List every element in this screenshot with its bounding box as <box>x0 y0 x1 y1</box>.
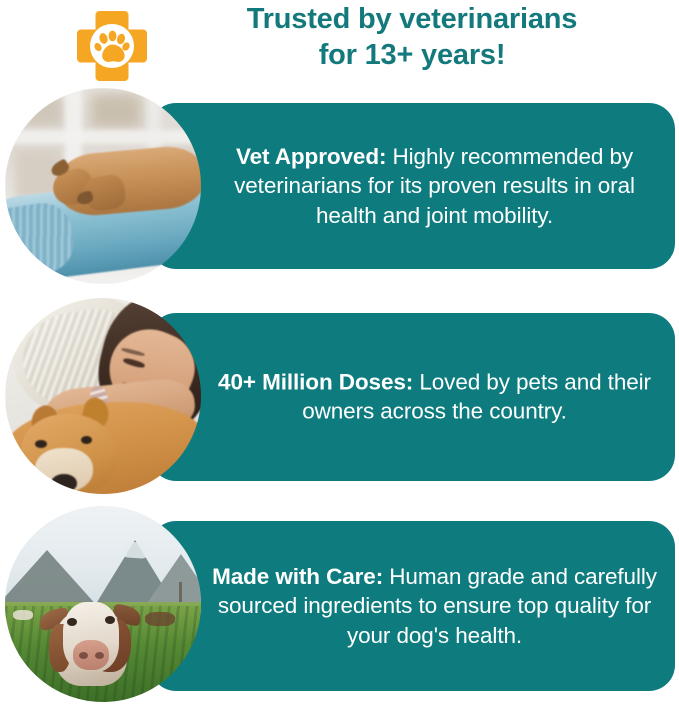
feature-row-vet-approved: Vet Approved: Highly recommended by vete… <box>0 88 679 284</box>
shelf-item-b <box>91 94 141 128</box>
cow-eye-left <box>67 618 77 626</box>
cow-nostril-right <box>95 652 104 659</box>
feature-card-made-with-care: Made with Care: Human grade and carefull… <box>150 521 675 691</box>
feature-card-vet-approved: Vet Approved: Highly recommended by vete… <box>150 103 675 269</box>
page-title-line-2: for 13+ years! <box>152 38 672 74</box>
mountain-left <box>5 550 99 608</box>
dog-paw-on-gloved-hand-photo <box>5 88 201 284</box>
shelf-rail-upper <box>5 130 201 144</box>
feature-text-vet-approved: Vet Approved: Highly recommended by vete… <box>212 142 657 230</box>
feature-text-million-doses: 40+ Million Doses: Loved by pets and the… <box>212 368 657 427</box>
page-title: Trusted by veterinarians for 13+ years! <box>152 2 672 74</box>
photo-artwork <box>5 298 201 494</box>
photo-artwork <box>5 506 201 702</box>
page-title-line-1: Trusted by veterinarians <box>152 2 672 38</box>
veterinary-cross-paw-icon <box>72 6 152 86</box>
feature-text-made-with-care: Made with Care: Human grade and carefull… <box>212 562 657 650</box>
feature-card-million-doses: 40+ Million Doses: Loved by pets and the… <box>150 313 675 481</box>
cow-in-mountain-pasture-photo <box>5 506 201 702</box>
feature-lead-million-doses: 40+ Million Doses: <box>218 370 413 395</box>
shelf-item-a <box>23 96 63 126</box>
distant-cow-left <box>13 610 33 620</box>
distant-cow-right <box>145 612 175 626</box>
shiba-inu-nose <box>51 474 77 492</box>
photo-artwork <box>5 88 201 284</box>
cow-eye-right <box>105 616 115 624</box>
woman-hugging-shiba-inu-photo <box>5 298 201 494</box>
cow-nostril-left <box>79 652 88 659</box>
feature-row-million-doses: 40+ Million Doses: Loved by pets and the… <box>0 298 679 496</box>
shiba-inu-eye-right <box>81 436 92 444</box>
feature-lead-made-with-care: Made with Care: <box>212 564 383 589</box>
feature-row-made-with-care: Made with Care: Human grade and carefull… <box>0 506 679 706</box>
header-banner: Trusted by veterinarians for 13+ years! <box>0 0 679 92</box>
feature-lead-vet-approved: Vet Approved: <box>236 144 386 169</box>
shiba-inu-eye-left <box>35 440 47 448</box>
